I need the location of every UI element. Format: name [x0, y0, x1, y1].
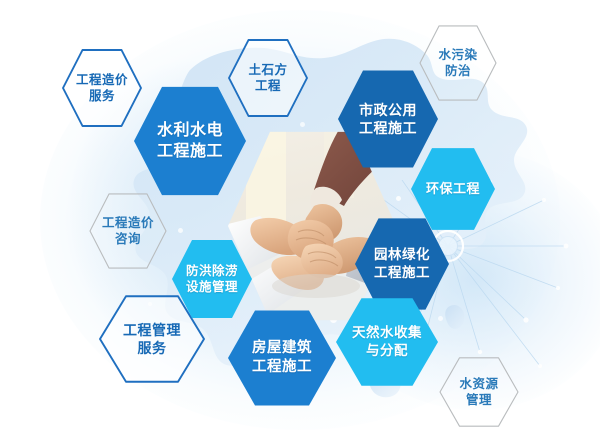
hexagon-label: 环保工程: [424, 180, 482, 197]
hexagon-label: 水资源 管理: [457, 376, 500, 409]
hexagon-label: 工程管理 服务: [121, 321, 183, 358]
hexagon-node-fangwu-jianzhu-gongcheng-shigong[interactable]: 房屋建筑 工程施工: [228, 308, 336, 408]
infographic-canvas: 工程造价 服务土石方 工程水污染 防治水利水电 工程施工市政公用 工程施工环保工…: [0, 0, 600, 439]
hexagon-label: 水利水电 工程施工: [155, 120, 225, 162]
bokeh-dot: [178, 228, 183, 233]
hexagon-label: 市政公用 工程施工: [357, 101, 419, 138]
hexagon-label: 水污染 防治: [436, 47, 479, 80]
bokeh-dot: [396, 196, 401, 201]
hexagon-label: 房屋建筑 工程施工: [250, 339, 314, 377]
bokeh-dot: [438, 316, 443, 321]
hexagon-label: 防洪除涝 设施管理: [184, 263, 240, 296]
hexagon-label: 园林绿化 工程施工: [372, 246, 432, 282]
hexagon-label: 土石方 工程: [246, 62, 289, 95]
hexagon-node-gongcheng-zaojia-fuwu[interactable]: 工程造价 服务: [63, 48, 141, 128]
bokeh-dot: [300, 122, 305, 127]
hexagon-node-shili-shuidian-gongcheng-shigong[interactable]: 水利水电 工程施工: [134, 84, 246, 198]
hexagon-node-tianranshui-shouji-yu-fenpei[interactable]: 天然水收集 与分配: [336, 296, 438, 388]
hexagon-label: 天然水收集 与分配: [350, 324, 424, 360]
hexagon-label: 工程造价 服务: [74, 72, 130, 105]
hexagon-node-shuiziyuan-guanli[interactable]: 水资源 管理: [440, 356, 518, 428]
hexagon-node-gongcheng-zaojia-zixun[interactable]: 工程造价 咨询: [90, 192, 166, 270]
hexagon-label: 工程造价 咨询: [100, 215, 156, 248]
